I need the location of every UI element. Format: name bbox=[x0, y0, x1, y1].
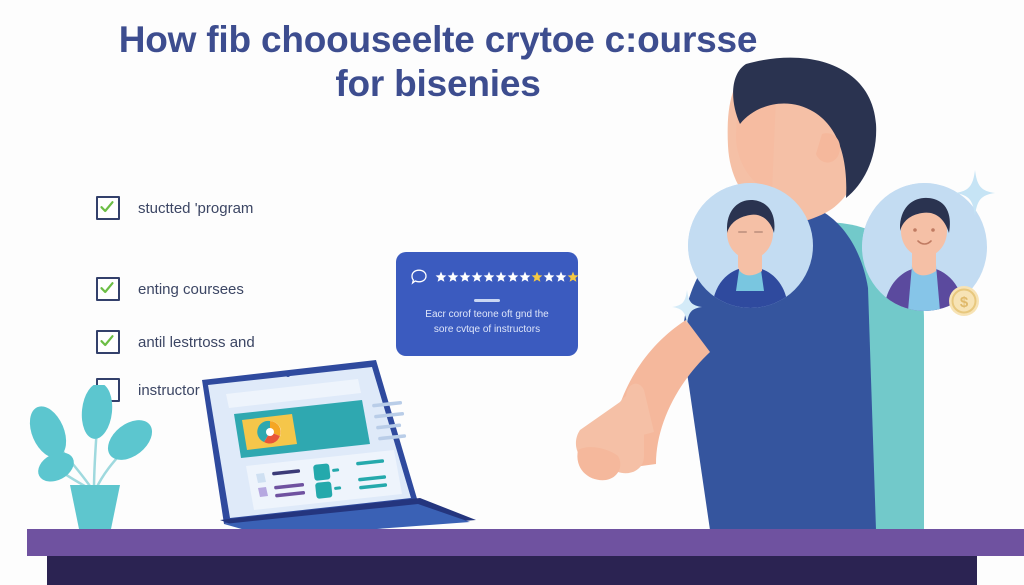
rating-row bbox=[410, 268, 579, 286]
star-icon bbox=[519, 271, 531, 283]
desk-surface bbox=[27, 529, 1024, 556]
sparkle-icon bbox=[955, 170, 995, 216]
checklist-item-3-label: antil lestrtoss and bbox=[138, 334, 255, 351]
checklist-item-2-label: enting coursees bbox=[138, 281, 244, 298]
star-icon bbox=[447, 271, 459, 283]
checklist-item-2[interactable]: enting coursees bbox=[96, 277, 244, 301]
checklist-item-3[interactable]: antil lestrtoss and bbox=[96, 330, 255, 354]
svg-text:$: $ bbox=[960, 294, 969, 311]
checkbox-checked-icon[interactable] bbox=[96, 277, 120, 301]
infographic-canvas: How fib choouseelte crytoe c:oursse for … bbox=[0, 0, 1024, 585]
star-icon bbox=[459, 271, 471, 283]
star-icon bbox=[555, 271, 567, 283]
card-divider bbox=[474, 299, 500, 302]
star-icon bbox=[483, 271, 495, 283]
potted-plant-illustration bbox=[18, 385, 178, 533]
checklist-item-1-label: stuctted 'program bbox=[138, 200, 253, 217]
star-icon bbox=[471, 271, 483, 283]
sparkle-icon bbox=[672, 290, 702, 324]
dollar-coin-icon: $ bbox=[948, 285, 980, 317]
star-icon bbox=[543, 271, 555, 283]
checklist-item-1[interactable]: stuctted 'program bbox=[96, 196, 253, 220]
avatar-badge-left bbox=[688, 183, 813, 308]
star-icon bbox=[495, 271, 507, 283]
checkbox-checked-icon[interactable] bbox=[96, 330, 120, 354]
review-text: Eacr corof teone oft gnd the sore cvtqe … bbox=[396, 308, 578, 337]
review-text-line-2: sore cvtqe of instructors bbox=[406, 323, 568, 338]
review-text-line-1: Eacr corof teone oft gnd the bbox=[406, 308, 568, 323]
rating-review-card[interactable]: Eacr corof teone oft gnd the sore cvtqe … bbox=[396, 252, 578, 356]
star-icon-gold bbox=[567, 271, 579, 283]
speech-bubble-icon bbox=[410, 268, 428, 286]
checkbox-checked-icon[interactable] bbox=[96, 196, 120, 220]
laptop-illustration bbox=[180, 352, 480, 537]
star-rating bbox=[435, 271, 579, 283]
star-icon-gold bbox=[531, 271, 543, 283]
star-icon bbox=[507, 271, 519, 283]
desk-front-panel bbox=[47, 556, 977, 585]
star-icon bbox=[435, 271, 447, 283]
